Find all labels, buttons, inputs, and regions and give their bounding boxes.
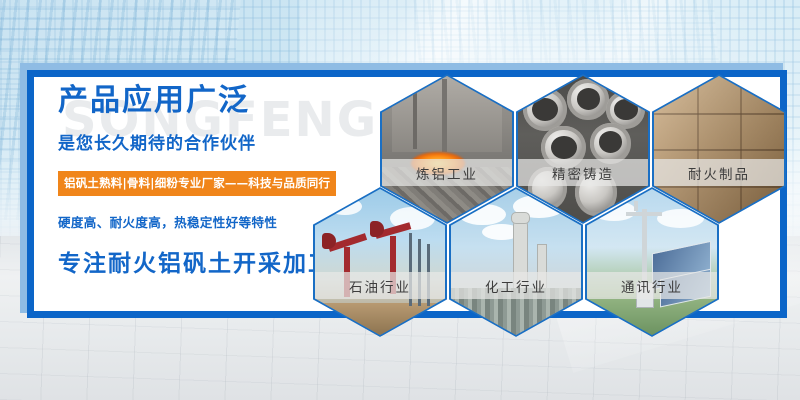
hex-label: 化工行业 [451,272,581,299]
hex-label: 精密铸造 [518,159,648,186]
hex-label: 炼铝工业 [382,159,512,186]
hex-label: 通讯行业 [587,272,717,299]
banner-stage: SONGFENG 产品应用广泛 是您长久期待的合作伙伴 铝矾土熟料|骨料|细粉专… [0,0,800,400]
hex-label: 耐火制品 [654,159,784,186]
hexagon-grid: 炼铝工业 [0,0,800,400]
hex-label: 石油行业 [315,272,445,299]
